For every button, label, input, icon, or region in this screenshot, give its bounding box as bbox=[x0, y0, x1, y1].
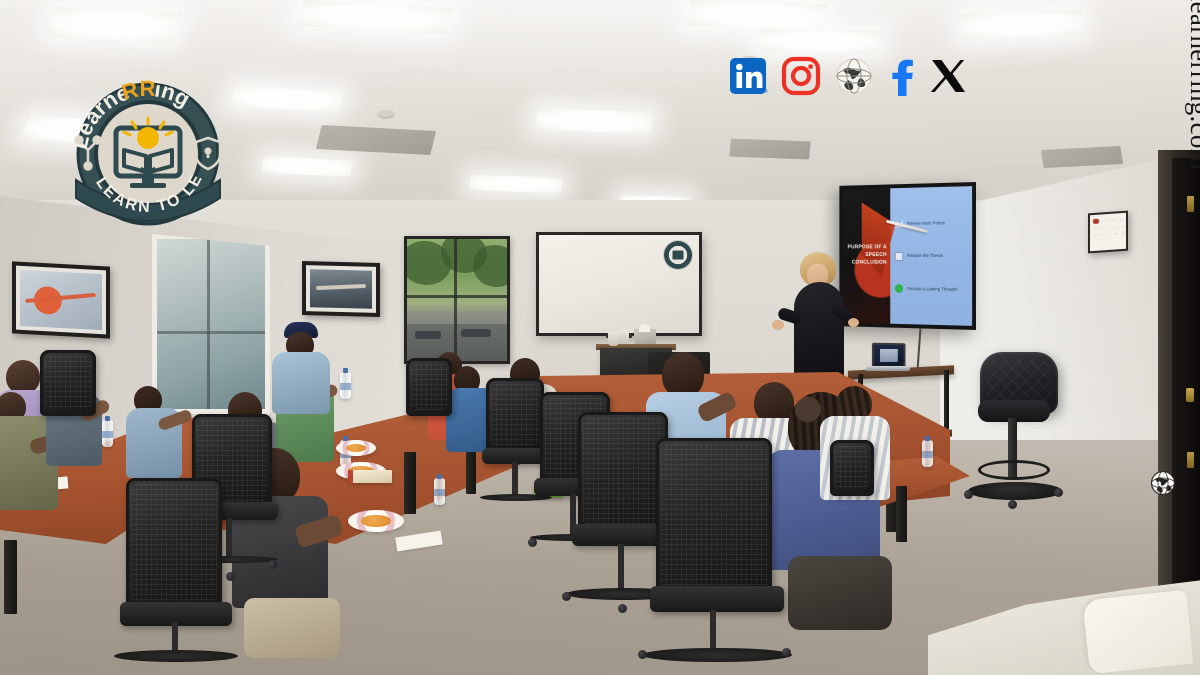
chair-post bbox=[618, 544, 624, 592]
chair-caster bbox=[528, 538, 537, 547]
ceiling-light-panel bbox=[759, 29, 881, 53]
student bbox=[128, 386, 190, 482]
x-twitter-icon[interactable] bbox=[930, 56, 966, 96]
laptop-screen bbox=[872, 343, 906, 368]
laptop-base bbox=[865, 366, 911, 371]
snack-plate bbox=[348, 510, 404, 532]
osprey-photo bbox=[302, 261, 380, 317]
ceiling-light-panel bbox=[961, 10, 1083, 39]
table-leg bbox=[896, 486, 907, 542]
slide-bullet: Restate the Thesis bbox=[895, 252, 967, 261]
slide-bullet-text: Provide a Lasting Thought bbox=[907, 286, 957, 292]
chair-mesh bbox=[491, 384, 539, 446]
ceiling-light-panel bbox=[535, 108, 654, 134]
logo-svg: Learne RR ing LEARN TO LEAD bbox=[66, 72, 230, 230]
document-icon bbox=[895, 252, 903, 261]
chair-mesh bbox=[45, 356, 91, 410]
chair-base bbox=[114, 650, 238, 662]
chair-mesh bbox=[131, 484, 217, 602]
svg-text:®: ® bbox=[764, 88, 768, 95]
task-chair[interactable] bbox=[126, 478, 222, 608]
ceiling-light-panel bbox=[687, 0, 828, 30]
task-chair[interactable] bbox=[656, 438, 772, 596]
presenter-right-hand bbox=[848, 318, 859, 327]
instagram-icon[interactable] bbox=[781, 56, 821, 96]
chair-post bbox=[710, 610, 716, 652]
whiteboard-logo-decal bbox=[664, 241, 692, 269]
book bbox=[348, 470, 392, 483]
logo-wordmark-accent: RR bbox=[119, 76, 156, 105]
white-cloth-fold bbox=[1082, 590, 1193, 674]
slide-bullet-text: Restate the Thesis bbox=[907, 254, 943, 259]
student-shorts bbox=[788, 556, 892, 630]
adult-torso bbox=[272, 352, 330, 414]
table-leg bbox=[4, 540, 17, 614]
chair-base bbox=[642, 648, 792, 662]
chair-caster bbox=[782, 648, 791, 657]
tissue-box bbox=[634, 329, 656, 344]
exterior-window bbox=[404, 236, 510, 364]
chair-caster bbox=[618, 604, 627, 613]
slide-bullet-text: Review Main Points bbox=[907, 220, 945, 225]
globe-icon bbox=[1150, 470, 1176, 496]
photo-image bbox=[20, 270, 102, 330]
chair-mesh bbox=[835, 446, 869, 490]
student-shorts bbox=[244, 598, 340, 658]
facebook-icon[interactable] bbox=[887, 56, 917, 96]
photo-image bbox=[310, 269, 372, 309]
doorway[interactable] bbox=[1172, 158, 1200, 610]
website-url-text: www.learnerring.com bbox=[1184, 0, 1200, 170]
chair-mesh bbox=[661, 444, 767, 590]
door-knob[interactable] bbox=[1186, 388, 1194, 402]
task-chair[interactable] bbox=[830, 440, 874, 496]
smoke-detector-icon bbox=[378, 110, 394, 117]
tv-screen: PURPOSE OF A SPEECH CONCLUSION Review Ma… bbox=[843, 186, 972, 326]
water-bottle bbox=[434, 478, 445, 505]
learnerring-logo[interactable]: Learne RR ing LEARN TO LEAD bbox=[66, 72, 230, 230]
task-chair[interactable] bbox=[578, 412, 668, 532]
drafting-stool-base bbox=[968, 482, 1062, 500]
website-url[interactable]: www.learnerring.com bbox=[1184, 0, 1200, 170]
slide-bullet: Provide a Lasting Thought bbox=[895, 284, 967, 294]
stool-caster bbox=[964, 490, 973, 499]
stool-caster bbox=[1008, 500, 1017, 509]
chair-caster bbox=[268, 560, 277, 569]
screenshot-root: PURPOSE OF A SPEECH CONCLUSION Review Ma… bbox=[0, 0, 1200, 675]
exterior-window-glass bbox=[407, 239, 507, 361]
table-leg bbox=[404, 452, 416, 514]
chair-post bbox=[512, 462, 518, 498]
social-icon-bar: ® bbox=[728, 56, 966, 96]
chair-caster bbox=[638, 650, 647, 659]
framed-certificate bbox=[1088, 211, 1128, 254]
interior-window-glass bbox=[157, 239, 265, 409]
parked-car bbox=[461, 329, 491, 337]
task-chair[interactable] bbox=[486, 378, 544, 452]
window-mullion bbox=[407, 295, 507, 298]
photo-mat bbox=[16, 266, 106, 335]
chair-mesh bbox=[583, 418, 663, 526]
student-head bbox=[6, 360, 40, 394]
photo-mat bbox=[306, 265, 376, 313]
credenza-items bbox=[608, 330, 668, 346]
adult-with-cap bbox=[272, 322, 336, 414]
chair-caster bbox=[562, 592, 571, 601]
linkedin-icon[interactable]: ® bbox=[728, 56, 768, 96]
globe-icon[interactable] bbox=[834, 56, 874, 96]
ceiling-air-vent bbox=[729, 139, 810, 160]
green-dot-icon bbox=[895, 284, 903, 293]
drafting-stool-footring bbox=[978, 460, 1050, 480]
chair-seat bbox=[650, 586, 784, 612]
cup bbox=[618, 330, 629, 344]
task-chair[interactable] bbox=[406, 358, 452, 416]
tree bbox=[473, 245, 507, 287]
parked-car bbox=[415, 331, 441, 339]
chair-mesh bbox=[411, 364, 447, 410]
slide-bullet-panel: Review Main Points Restate the Thesis Pr… bbox=[890, 186, 972, 326]
door-hinge bbox=[1187, 196, 1194, 212]
presenter-left-hand bbox=[772, 320, 784, 330]
helicopter-photo bbox=[12, 261, 110, 338]
window-mullion bbox=[454, 239, 457, 361]
whiteboard-surface bbox=[539, 235, 699, 333]
certificate-paper bbox=[1090, 213, 1126, 252]
stool-caster bbox=[1054, 488, 1063, 497]
water-bottle bbox=[340, 372, 351, 399]
door-hinge bbox=[1187, 452, 1194, 468]
water-bottle bbox=[922, 440, 933, 467]
whiteboard bbox=[536, 232, 702, 336]
ceiling-light-panel bbox=[469, 174, 563, 193]
chair-caster bbox=[226, 572, 235, 581]
task-chair[interactable] bbox=[40, 350, 96, 416]
